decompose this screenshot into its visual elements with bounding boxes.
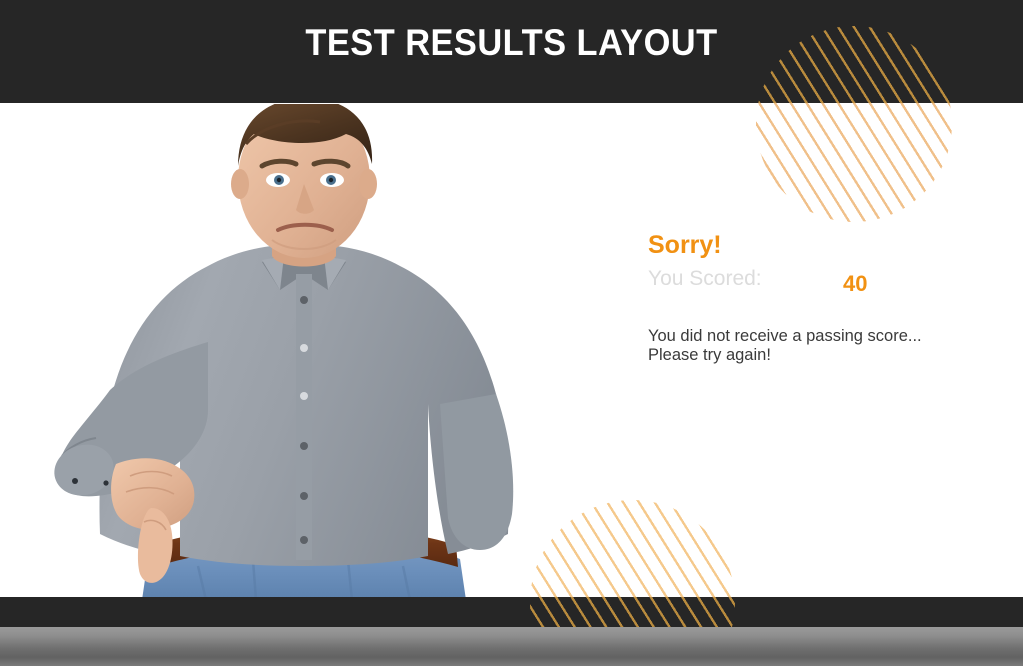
result-message-line-1: You did not receive a passing score... — [648, 327, 978, 346]
result-heading: Sorry! — [648, 230, 978, 260]
score-label: You Scored: — [648, 265, 762, 293]
result-panel: Sorry! You Scored: 40 You did not receiv… — [648, 230, 978, 365]
player-controls-bar — [0, 627, 1023, 666]
man-thumbs-down-photo — [48, 104, 560, 600]
score-value: 40 — [843, 270, 867, 298]
footer-band — [0, 597, 1023, 627]
result-message: You did not receive a passing score... P… — [648, 327, 978, 365]
slide-canvas: TEST RESULTS LAYOUT Sorry! You Scored: 4… — [0, 0, 1023, 666]
score-row: You Scored: 40 — [648, 265, 978, 299]
result-message-line-2: Please try again! — [648, 346, 978, 365]
